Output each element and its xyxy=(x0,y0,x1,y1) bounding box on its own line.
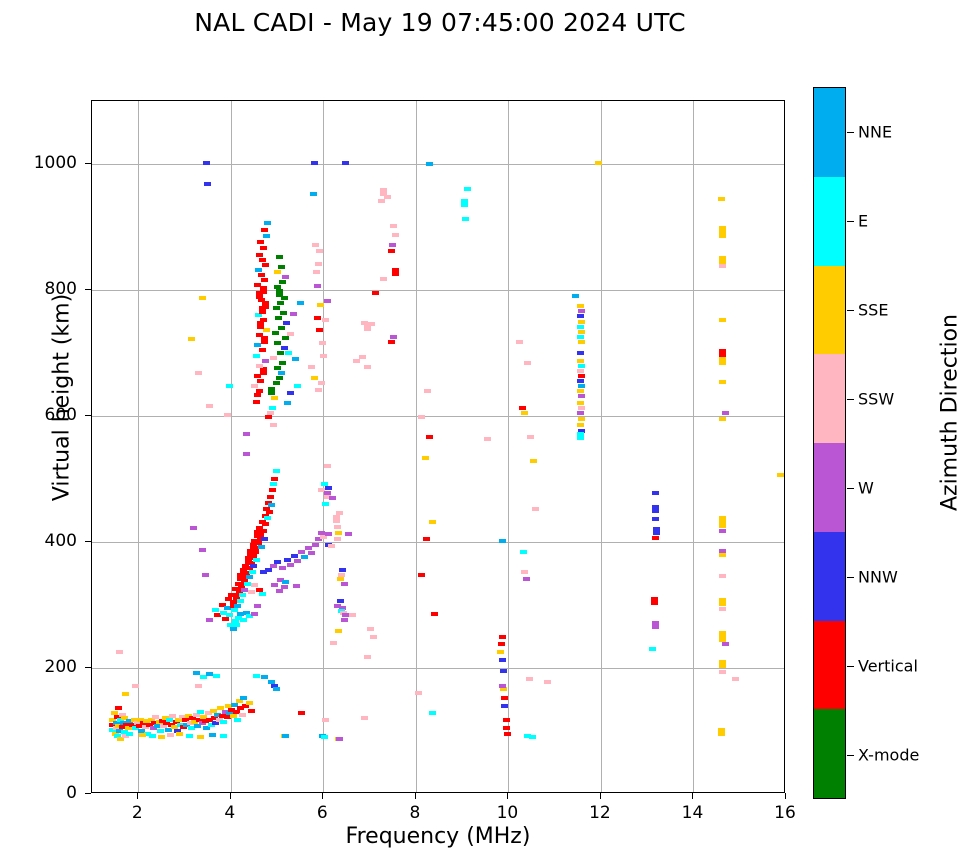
echo-point xyxy=(334,525,341,529)
echo-point xyxy=(484,437,491,441)
echo-point xyxy=(418,573,425,577)
echo-point xyxy=(212,721,219,725)
echo-point xyxy=(197,735,204,739)
echo-point xyxy=(503,726,510,730)
echo-point xyxy=(532,507,539,511)
echo-point xyxy=(312,543,319,547)
echo-point xyxy=(199,548,206,552)
echo-point xyxy=(322,502,329,506)
echo-point xyxy=(278,371,285,375)
echo-point xyxy=(429,520,436,524)
echo-point xyxy=(370,635,377,639)
echo-point xyxy=(342,161,349,165)
echo-point xyxy=(308,551,315,555)
echo-point xyxy=(254,393,261,397)
echo-point xyxy=(255,268,262,272)
echo-point xyxy=(256,389,263,393)
echo-point xyxy=(652,491,659,495)
x-tick-mark xyxy=(137,793,138,799)
y-tick-mark xyxy=(85,289,91,290)
echo-point xyxy=(233,623,240,627)
echo-point xyxy=(719,516,726,528)
echo-point xyxy=(521,570,528,574)
colorbar-tick-mark xyxy=(847,310,854,311)
gridline-horizontal xyxy=(92,542,784,543)
echo-point xyxy=(500,687,507,691)
echo-point xyxy=(529,735,536,739)
echo-point xyxy=(504,732,511,736)
echo-point xyxy=(378,199,385,203)
echo-point xyxy=(578,320,585,324)
echo-point xyxy=(186,734,193,738)
echo-point xyxy=(722,411,729,415)
echo-point xyxy=(577,389,584,393)
echo-point xyxy=(260,246,267,250)
echo-point xyxy=(364,655,371,659)
echo-point xyxy=(285,351,292,355)
echo-point xyxy=(278,265,285,269)
echo-point xyxy=(256,333,263,337)
echo-point xyxy=(577,304,584,308)
echo-point xyxy=(345,532,352,536)
echo-point xyxy=(274,285,281,289)
y-tick-mark xyxy=(85,415,91,416)
x-tick-mark xyxy=(600,793,601,799)
echo-point xyxy=(367,627,374,631)
echo-point xyxy=(336,737,343,741)
echo-point xyxy=(336,511,343,515)
echo-point xyxy=(293,584,300,588)
echo-point xyxy=(423,537,430,541)
echo-point xyxy=(320,354,327,358)
echo-point xyxy=(202,573,209,577)
echo-point xyxy=(338,573,345,577)
echo-point xyxy=(273,381,280,385)
echo-point xyxy=(257,379,264,383)
echo-point xyxy=(260,367,267,375)
echo-point xyxy=(279,361,286,365)
echo-point xyxy=(578,417,585,421)
echo-point xyxy=(199,296,206,300)
echo-point xyxy=(652,517,659,521)
echo-point xyxy=(220,720,227,724)
echo-point xyxy=(266,510,273,514)
echo-point xyxy=(291,554,298,558)
echo-point xyxy=(349,613,356,617)
echo-point xyxy=(577,351,584,355)
echo-point xyxy=(718,197,725,201)
echo-point xyxy=(262,522,269,526)
colorbar-segment-nne xyxy=(814,88,845,177)
echo-point xyxy=(251,583,258,587)
echo-point xyxy=(243,432,250,436)
echo-point xyxy=(206,404,213,408)
echo-point xyxy=(149,734,156,738)
echo-point xyxy=(274,341,281,345)
echo-point xyxy=(499,635,506,639)
echo-point xyxy=(263,234,270,238)
echo-point xyxy=(301,555,308,559)
echo-point xyxy=(578,384,585,388)
echo-point xyxy=(287,391,294,395)
echo-point xyxy=(239,593,246,597)
echo-point xyxy=(283,321,290,325)
echo-point xyxy=(115,706,122,710)
echo-point xyxy=(368,322,375,326)
echo-point xyxy=(260,318,267,322)
echo-point xyxy=(461,199,468,207)
colorbar-label-nnw: NNW xyxy=(858,567,898,586)
echo-point xyxy=(719,417,726,421)
echo-point xyxy=(275,316,282,320)
echo-point xyxy=(719,553,726,557)
gridline-vertical xyxy=(323,101,324,792)
echo-point xyxy=(500,669,507,673)
echo-point xyxy=(270,356,277,360)
echo-point xyxy=(282,336,289,340)
echo-point xyxy=(269,406,276,410)
echo-point xyxy=(206,672,213,676)
echo-point xyxy=(499,658,506,662)
echo-point xyxy=(426,435,433,439)
echo-point xyxy=(224,413,231,417)
echo-point xyxy=(116,650,123,654)
echo-point xyxy=(253,558,260,562)
echo-point xyxy=(311,376,318,380)
echo-point xyxy=(212,608,219,612)
echo-point xyxy=(248,590,255,594)
echo-point xyxy=(719,318,726,322)
echo-point xyxy=(234,604,241,608)
echo-point xyxy=(652,536,659,540)
echo-point xyxy=(523,577,530,581)
echo-point xyxy=(577,314,584,318)
echo-point xyxy=(261,675,268,679)
echo-point xyxy=(718,728,725,736)
echo-point xyxy=(324,491,331,495)
x-tick-label: 6 xyxy=(317,803,328,823)
echo-point xyxy=(258,273,265,277)
echo-point xyxy=(649,647,656,651)
echo-point xyxy=(499,684,506,688)
echo-point xyxy=(524,361,531,365)
echo-point xyxy=(259,592,266,596)
echo-point xyxy=(316,249,323,253)
gridline-horizontal xyxy=(92,416,784,417)
echo-point xyxy=(577,325,584,329)
echo-point xyxy=(284,401,291,405)
echo-point xyxy=(262,301,269,309)
echo-point xyxy=(719,357,726,365)
echo-point xyxy=(259,258,266,262)
echo-point xyxy=(254,604,261,608)
echo-point xyxy=(577,369,584,373)
colorbar-label-w: W xyxy=(858,478,874,497)
gridline-vertical xyxy=(693,101,694,792)
echo-point xyxy=(653,527,660,535)
echo-point xyxy=(261,278,268,282)
echo-point xyxy=(248,709,255,713)
echo-point xyxy=(578,309,585,313)
echo-point xyxy=(167,733,174,737)
echo-point xyxy=(719,226,726,238)
echo-point xyxy=(279,280,286,284)
echo-point xyxy=(157,729,164,733)
echo-point xyxy=(318,488,325,492)
colorbar-label-e: E xyxy=(858,211,868,230)
echo-point xyxy=(213,674,220,678)
echo-point xyxy=(237,599,244,603)
echo-point xyxy=(732,677,739,681)
y-tick-label: 1000 xyxy=(1,153,77,173)
echo-point xyxy=(719,607,726,611)
echo-point xyxy=(462,217,469,221)
echo-point xyxy=(270,423,277,427)
echo-point xyxy=(337,577,344,581)
gridline-vertical xyxy=(601,101,602,792)
gridline-horizontal xyxy=(92,668,784,669)
echo-point xyxy=(176,732,183,736)
echo-point xyxy=(577,432,584,440)
echo-point xyxy=(204,182,211,186)
echo-point xyxy=(195,371,202,375)
echo-point xyxy=(290,312,297,316)
echo-point xyxy=(244,582,251,586)
echo-point xyxy=(265,415,272,419)
echo-point xyxy=(719,631,726,639)
echo-point xyxy=(267,495,274,499)
echo-point xyxy=(392,233,399,237)
colorbar-tick-mark xyxy=(847,399,854,400)
data-canvas xyxy=(92,101,784,792)
echo-point xyxy=(264,516,271,520)
echo-point xyxy=(422,456,429,460)
echo-point xyxy=(276,376,283,380)
echo-point xyxy=(516,340,523,344)
colorbar-label-vertical: Vertical xyxy=(858,656,918,675)
echo-point xyxy=(258,545,265,549)
echo-point xyxy=(294,559,301,563)
echo-point xyxy=(578,364,585,368)
echo-point xyxy=(722,642,729,646)
echo-point xyxy=(253,354,260,358)
echo-point xyxy=(274,270,281,274)
x-tick-label: 2 xyxy=(132,803,143,823)
echo-point xyxy=(240,696,247,700)
echo-point xyxy=(287,332,294,336)
echo-point xyxy=(226,384,233,388)
echo-point xyxy=(282,580,289,584)
echo-point xyxy=(318,381,325,385)
echo-point xyxy=(206,618,213,622)
echo-point xyxy=(526,677,533,681)
echo-point xyxy=(353,359,360,363)
echo-point xyxy=(260,286,267,294)
x-tick-label: 4 xyxy=(224,803,235,823)
colorbar-tick-mark xyxy=(847,666,854,667)
echo-point xyxy=(719,529,726,533)
echo-point xyxy=(577,335,584,339)
colorbar-tick-mark xyxy=(847,755,854,756)
echo-point xyxy=(380,277,387,281)
colorbar-tick-mark xyxy=(847,577,854,578)
echo-point xyxy=(330,641,337,645)
echo-point xyxy=(272,331,279,335)
echo-point xyxy=(431,612,438,616)
x-axis-label: Frequency (MHz) xyxy=(91,824,785,849)
echo-point xyxy=(203,161,210,165)
echo-point xyxy=(501,696,508,700)
x-tick-mark xyxy=(230,793,231,799)
echo-point xyxy=(314,316,321,320)
colorbar-segment-ssw xyxy=(814,354,845,443)
echo-point xyxy=(193,671,200,675)
echo-point xyxy=(595,161,602,165)
echo-point xyxy=(359,355,366,359)
plot-area xyxy=(91,100,785,793)
y-tick-mark xyxy=(85,163,91,164)
echo-point xyxy=(273,687,280,691)
echo-point xyxy=(257,321,264,329)
echo-point xyxy=(337,599,344,603)
echo-point xyxy=(497,650,504,654)
echo-point xyxy=(158,735,165,739)
echo-point xyxy=(308,365,315,369)
colorbar-segment-x-mode xyxy=(814,709,845,798)
echo-point xyxy=(280,311,287,315)
echo-point xyxy=(122,692,129,696)
echo-point xyxy=(424,389,431,393)
echo-point xyxy=(388,340,395,344)
echo-point xyxy=(315,262,322,266)
echo-point xyxy=(264,221,271,225)
echo-point xyxy=(652,505,659,513)
echo-point xyxy=(719,264,726,268)
echo-point xyxy=(246,575,253,579)
echo-point xyxy=(519,406,526,410)
echo-point xyxy=(310,192,317,196)
colorbar-segment-w xyxy=(814,443,845,532)
echo-point xyxy=(544,680,551,684)
echo-point xyxy=(429,711,436,715)
echo-point xyxy=(651,597,658,605)
echo-point xyxy=(259,348,266,352)
echo-point xyxy=(281,585,288,589)
echo-point xyxy=(270,564,277,568)
echo-point xyxy=(577,411,584,415)
echo-point xyxy=(339,568,346,572)
colorbar-tick-mark xyxy=(847,488,854,489)
echo-point xyxy=(389,243,396,247)
echo-point xyxy=(197,710,204,714)
echo-point xyxy=(527,435,534,439)
colorbar-tick-mark xyxy=(847,221,854,222)
gridline-horizontal xyxy=(92,290,784,291)
echo-point xyxy=(312,243,319,247)
echo-point xyxy=(278,326,285,330)
echo-point xyxy=(273,306,280,310)
echo-point xyxy=(578,330,585,334)
echo-point xyxy=(282,275,289,279)
echo-point xyxy=(501,704,508,708)
echo-point xyxy=(234,718,241,722)
echo-point xyxy=(268,387,275,395)
y-tick-mark xyxy=(85,667,91,668)
ionogram-figure: NAL CADI - May 19 07:45:00 2024 UTC 2468… xyxy=(0,0,958,857)
y-tick-mark xyxy=(85,541,91,542)
echo-point xyxy=(239,713,246,717)
colorbar-label-sse: SSE xyxy=(858,300,888,319)
echo-point xyxy=(257,240,264,244)
echo-point xyxy=(268,503,275,507)
echo-point xyxy=(240,618,247,622)
y-axis-label: Virtual height (km) xyxy=(50,258,75,538)
echo-point xyxy=(652,621,659,629)
echo-point xyxy=(253,674,260,678)
echo-point xyxy=(132,684,139,688)
echo-point xyxy=(503,718,510,722)
echo-point xyxy=(777,473,784,477)
echo-point xyxy=(276,255,283,259)
echo-point xyxy=(260,529,267,533)
echo-point xyxy=(256,364,263,368)
gridline-vertical xyxy=(138,101,139,792)
echo-point xyxy=(250,564,257,568)
echo-point xyxy=(126,732,133,736)
gridline-vertical xyxy=(508,101,509,792)
colorbar xyxy=(813,87,846,799)
echo-point xyxy=(521,411,528,415)
colorbar-label-ssw: SSW xyxy=(858,389,894,408)
echo-point xyxy=(209,733,216,737)
x-tick-label: 10 xyxy=(497,803,519,823)
echo-point xyxy=(273,469,280,473)
x-tick-mark xyxy=(507,793,508,799)
echo-point xyxy=(388,249,395,253)
echo-point xyxy=(279,566,286,570)
echo-point xyxy=(276,289,283,297)
echo-point xyxy=(333,515,340,523)
colorbar-segment-vertical xyxy=(814,621,845,710)
echo-point xyxy=(329,496,336,500)
echo-point xyxy=(265,568,272,572)
echo-point xyxy=(315,388,322,392)
echo-point xyxy=(277,301,284,305)
echo-point xyxy=(499,539,506,543)
echo-point xyxy=(464,187,471,191)
echo-point xyxy=(222,617,229,621)
echo-point xyxy=(256,253,263,257)
echo-point xyxy=(426,162,433,166)
echo-point xyxy=(139,733,146,737)
echo-point xyxy=(390,224,397,228)
echo-point xyxy=(314,284,321,288)
echo-point xyxy=(271,583,278,587)
echo-point xyxy=(271,477,278,481)
echo-point xyxy=(270,482,277,486)
gridline-vertical xyxy=(231,101,232,792)
echo-point xyxy=(251,612,258,616)
echo-point xyxy=(203,726,210,730)
echo-point xyxy=(324,299,331,303)
echo-point xyxy=(719,574,726,578)
echo-point xyxy=(188,337,195,341)
echo-point xyxy=(577,379,584,383)
colorbar-title: Azimuth Direction xyxy=(938,263,958,563)
echo-point xyxy=(190,526,197,530)
echo-point xyxy=(261,228,268,232)
echo-point xyxy=(335,629,342,633)
